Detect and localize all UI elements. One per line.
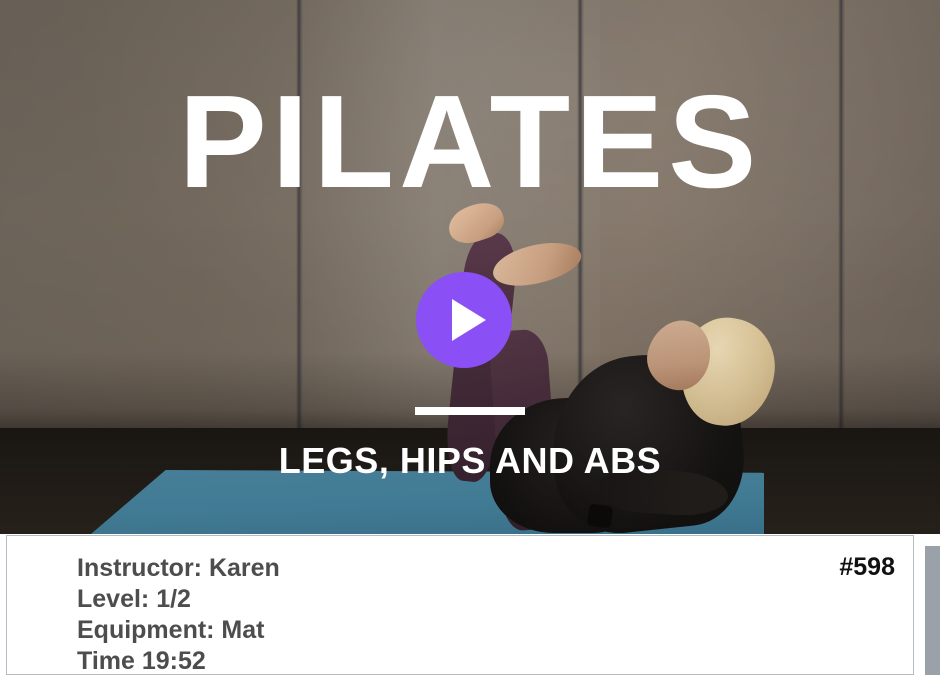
- video-title: PILATES: [0, 76, 940, 208]
- video-player[interactable]: PILATES LEGS, HIPS AND ABS: [0, 0, 940, 534]
- title-divider: [415, 407, 525, 415]
- scrollbar-thumb[interactable]: [925, 546, 940, 675]
- class-details: Instructor: Karen Level: 1/2 Equipment: …: [77, 553, 883, 675]
- class-info-card: Instructor: Karen Level: 1/2 Equipment: …: [6, 535, 914, 675]
- video-class-page: PILATES LEGS, HIPS AND ABS Instructor: K…: [0, 0, 940, 675]
- class-number-badge: #598: [839, 553, 895, 582]
- equipment-line: Equipment: Mat: [77, 615, 883, 646]
- play-icon: [452, 299, 486, 341]
- play-button[interactable]: [416, 272, 512, 368]
- instructor-line: Instructor: Karen: [77, 553, 883, 584]
- level-line: Level: 1/2: [77, 584, 883, 615]
- time-line: Time 19:52: [77, 646, 883, 675]
- video-subtitle: LEGS, HIPS AND ABS: [0, 440, 940, 482]
